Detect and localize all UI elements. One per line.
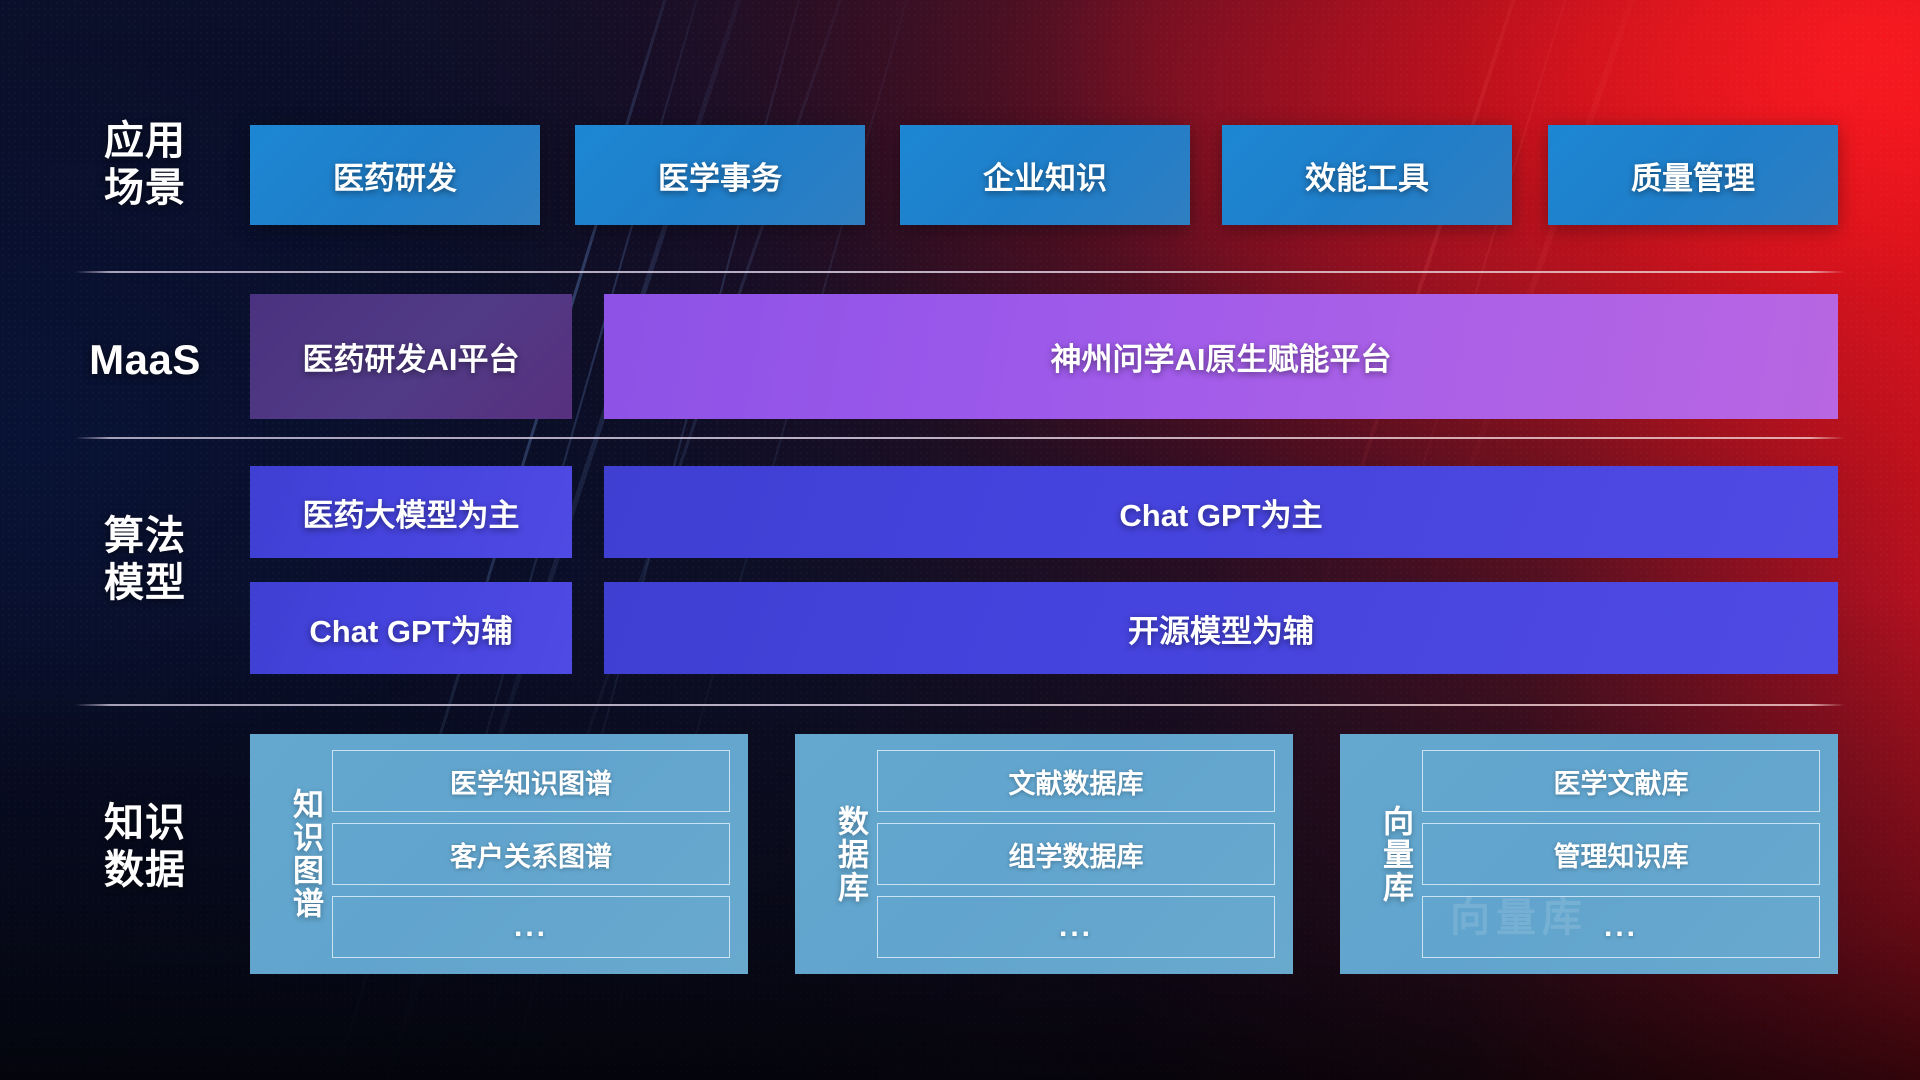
divider-after-application-scenarios — [75, 271, 1845, 273]
knowledge-group-title: 向量库 — [1354, 805, 1412, 904]
app-scenario-label: 质量管理 — [1631, 153, 1755, 198]
row-label-line: 知识 — [60, 800, 230, 847]
algo-box-chatgpt-assist[interactable]: Chat GPT为辅 — [250, 582, 572, 674]
row-label-knowledge-data: 知识 数据 — [60, 800, 230, 894]
maas-box-label: 神州问学AI原生赋能平台 — [1051, 334, 1392, 379]
row-label-application-scenarios: 应用 场景 — [60, 118, 230, 212]
knowledge-group-knowledge-graph[interactable]: 知识图谱 医学知识图谱 客户关系图谱 ... — [250, 734, 748, 974]
knowledge-item-more[interactable]: ... — [332, 896, 730, 958]
divider-after-algorithm-models — [75, 704, 1845, 706]
knowledge-item[interactable]: 管理知识库 — [1422, 823, 1820, 885]
algo-box-opensource-assist[interactable]: 开源模型为辅 — [604, 582, 1838, 674]
row-label-maas: MaaS — [60, 335, 230, 385]
app-scenario-label: 企业知识 — [983, 153, 1107, 198]
algo-box-label: 开源模型为辅 — [1128, 606, 1314, 651]
algo-box-label: Chat GPT为辅 — [309, 606, 512, 651]
row-label-algorithm-models: 算法 模型 — [60, 513, 230, 607]
row-label-line: MaaS — [60, 335, 230, 385]
algo-box-medicine-main[interactable]: 医药大模型为主 — [250, 466, 572, 558]
app-scenario-box-2[interactable]: 医学事务 — [575, 125, 865, 225]
knowledge-group-item-list: 医学文献库 管理知识库 ... — [1422, 750, 1820, 958]
knowledge-group-database[interactable]: 数据库 文献数据库 组学数据库 ... — [795, 734, 1293, 974]
knowledge-item[interactable]: 客户关系图谱 — [332, 823, 730, 885]
app-scenario-box-3[interactable]: 企业知识 — [900, 125, 1190, 225]
algo-box-label: 医药大模型为主 — [303, 490, 520, 535]
app-scenario-box-4[interactable]: 效能工具 — [1222, 125, 1512, 225]
knowledge-group-item-list: 文献数据库 组学数据库 ... — [877, 750, 1275, 958]
maas-box-label: 医药研发AI平台 — [303, 334, 520, 379]
knowledge-group-title: 知识图谱 — [264, 788, 322, 920]
row-label-line: 数据 — [60, 847, 230, 894]
knowledge-group-item-list: 医学知识图谱 客户关系图谱 ... — [332, 750, 730, 958]
knowledge-item[interactable]: 组学数据库 — [877, 823, 1275, 885]
app-scenario-box-1[interactable]: 医药研发 — [250, 125, 540, 225]
maas-box-medicine-ai-platform[interactable]: 医药研发AI平台 — [250, 294, 572, 419]
knowledge-item-more[interactable]: ... — [877, 896, 1275, 958]
app-scenario-label: 医学事务 — [658, 153, 782, 198]
row-label-line: 场景 — [60, 165, 230, 212]
knowledge-item[interactable]: 医学知识图谱 — [332, 750, 730, 812]
knowledge-item[interactable]: 文献数据库 — [877, 750, 1275, 812]
app-scenario-label: 效能工具 — [1305, 153, 1429, 198]
slide-canvas: 应用 场景 医药研发 医学事务 企业知识 效能工具 质量管理 MaaS 医药研发… — [0, 0, 1920, 1080]
app-scenario-label: 医药研发 — [333, 153, 457, 198]
maas-box-shenzhou-platform[interactable]: 神州问学AI原生赋能平台 — [604, 294, 1838, 419]
row-label-line: 应用 — [60, 118, 230, 165]
knowledge-item-more[interactable]: ... — [1422, 896, 1820, 958]
divider-after-maas — [75, 437, 1845, 439]
app-scenario-box-5[interactable]: 质量管理 — [1548, 125, 1838, 225]
knowledge-item[interactable]: 医学文献库 — [1422, 750, 1820, 812]
row-label-line: 算法 — [60, 513, 230, 560]
knowledge-group-title: 数据库 — [809, 805, 867, 904]
algo-box-chatgpt-main[interactable]: Chat GPT为主 — [604, 466, 1838, 558]
algo-box-label: Chat GPT为主 — [1119, 490, 1322, 535]
row-label-line: 模型 — [60, 560, 230, 607]
knowledge-group-vector-store[interactable]: 向量库 医学文献库 管理知识库 ... — [1340, 734, 1838, 974]
